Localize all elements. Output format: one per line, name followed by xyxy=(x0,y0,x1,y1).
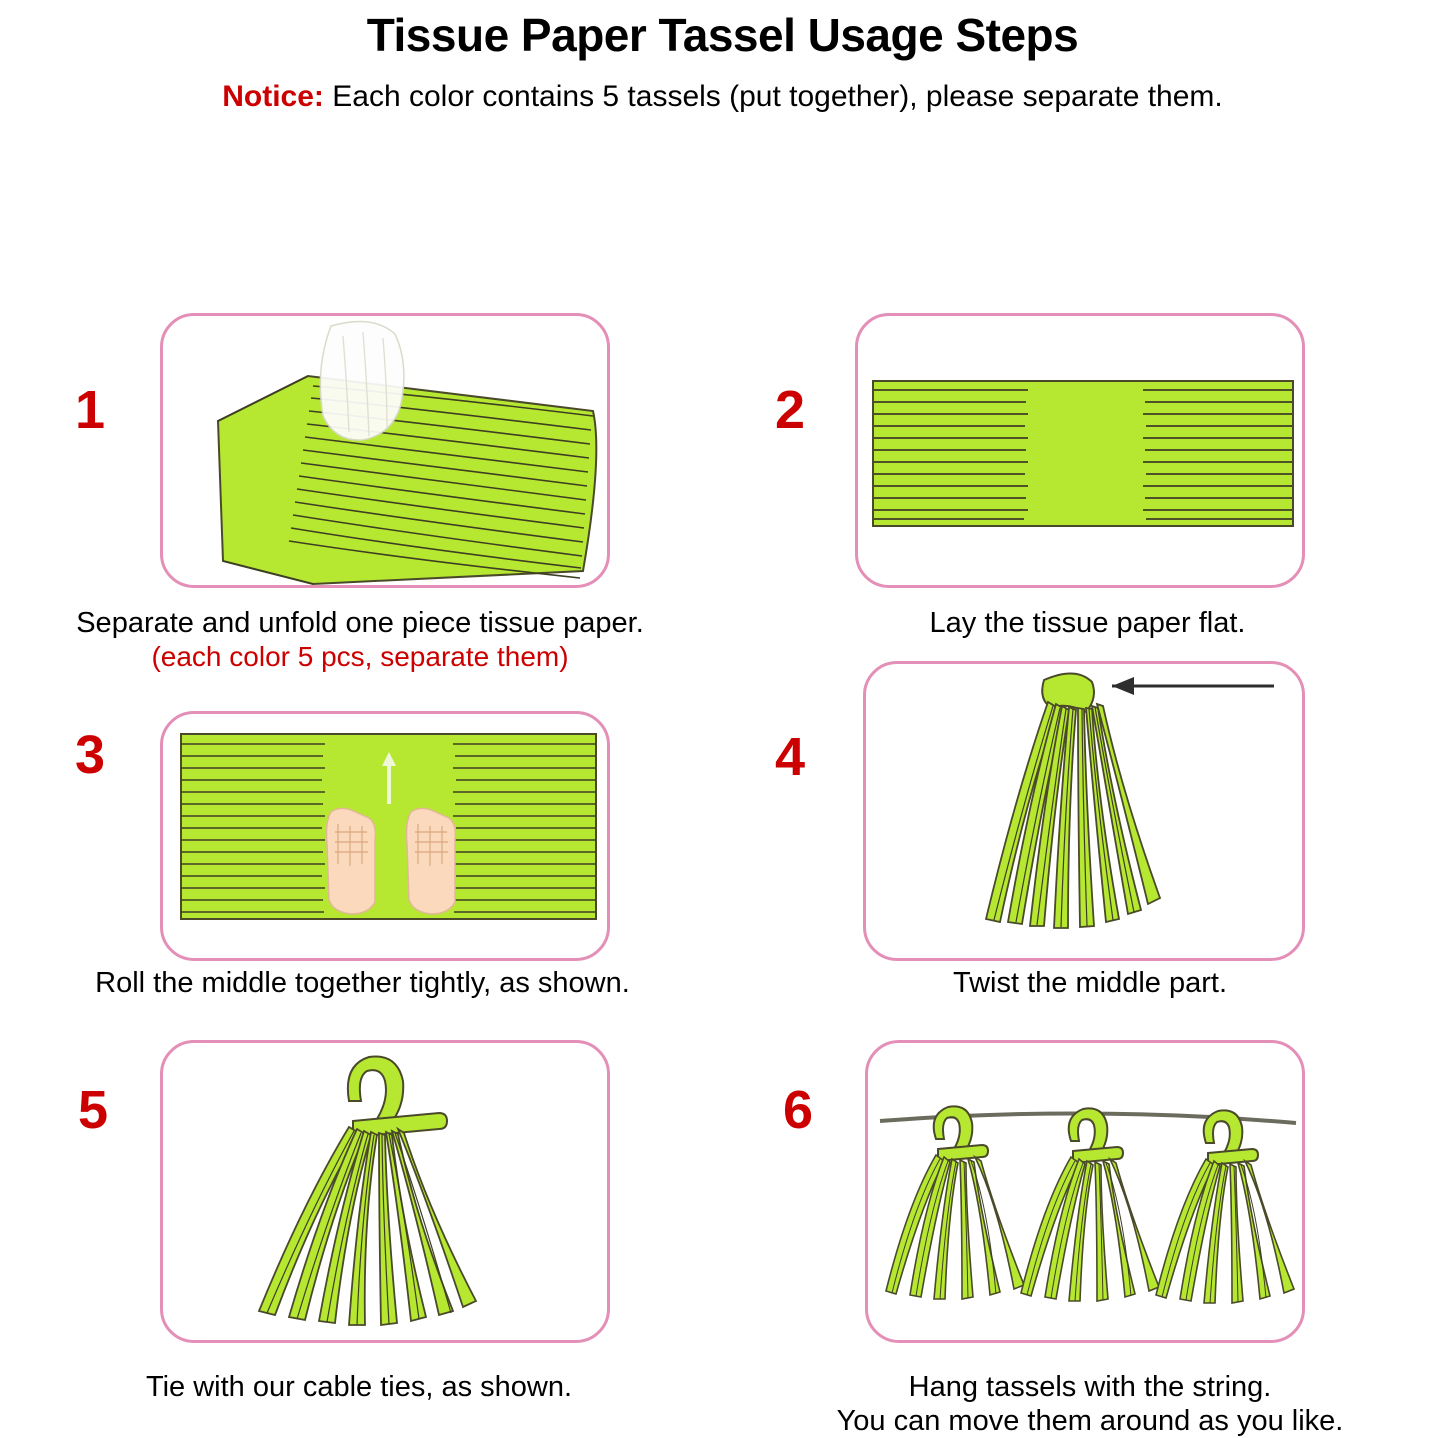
step-number-2: 2 xyxy=(775,383,805,437)
step-3-caption-main: Roll the middle together tightly, as sho… xyxy=(95,967,630,999)
step-6-caption-main: Hang tassels with the string. xyxy=(909,1371,1272,1403)
flat-fringed-sheet-icon xyxy=(858,316,1305,588)
notice-line: Notice: Each color contains 5 tassels (p… xyxy=(0,80,1445,114)
step-5-caption: Tie with our cable ties, as shown. xyxy=(0,1370,718,1404)
step-number-1: 1 xyxy=(75,383,105,437)
step-1-caption: Separate and unfold one piece tissue pap… xyxy=(0,606,720,673)
page-title: Tissue Paper Tassel Usage Steps xyxy=(0,8,1445,62)
notice-text: Each color contains 5 tassels (put toget… xyxy=(324,80,1223,113)
step-6-caption-sub: You can move them around as you like. xyxy=(735,1404,1445,1438)
step-3-caption: Roll the middle together tightly, as sho… xyxy=(0,966,725,1000)
step-2-illustration xyxy=(855,313,1305,588)
step-6-illustration xyxy=(865,1040,1305,1343)
step-number-3: 3 xyxy=(75,728,105,782)
step-4-caption: Twist the middle part. xyxy=(735,966,1445,1000)
step-number-6: 6 xyxy=(783,1083,813,1137)
step-2-caption: Lay the tissue paper flat. xyxy=(730,606,1445,640)
step-2-caption-main: Lay the tissue paper flat. xyxy=(930,607,1246,639)
step-6-caption: Hang tassels with the string. You can mo… xyxy=(735,1370,1445,1438)
three-tassels-on-string-icon xyxy=(868,1043,1305,1343)
tied-tassel-icon xyxy=(163,1043,610,1343)
hands-rolling-middle-icon xyxy=(163,714,610,961)
step-4-caption-main: Twist the middle part. xyxy=(953,967,1227,999)
step-3-illustration xyxy=(160,711,610,961)
step-1-caption-sub: (each color 5 pcs, separate them) xyxy=(0,640,720,673)
step-number-4: 4 xyxy=(775,730,805,784)
step-5-caption-main: Tie with our cable ties, as shown. xyxy=(146,1371,572,1403)
crumpled-tissue-icon xyxy=(163,316,610,588)
twisted-tassel-icon xyxy=(866,664,1305,961)
step-1-illustration xyxy=(160,313,610,588)
tutorial-page: Tissue Paper Tassel Usage Steps Notice: … xyxy=(0,8,1445,1361)
step-number-5: 5 xyxy=(78,1083,108,1137)
step-5-illustration xyxy=(160,1040,610,1343)
step-4-illustration xyxy=(863,661,1305,961)
step-1-caption-main: Separate and unfold one piece tissue pap… xyxy=(76,607,644,639)
notice-label: Notice: xyxy=(222,80,324,113)
